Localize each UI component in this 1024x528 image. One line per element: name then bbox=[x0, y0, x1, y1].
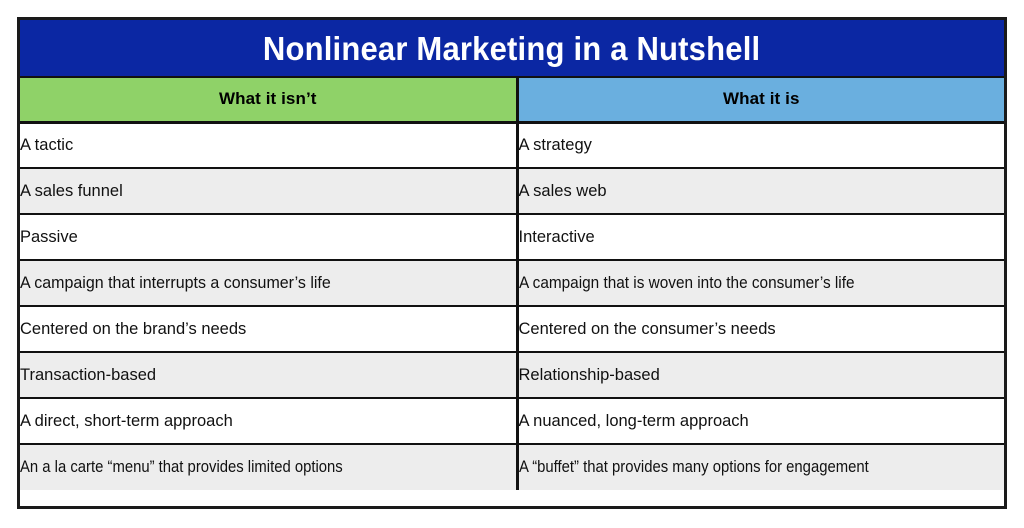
cell-text: A direct, short-term approach bbox=[20, 412, 233, 430]
cell-text: A nuanced, long-term approach bbox=[519, 412, 749, 430]
cell-what-it-is: A “buffet” that provides many options fo… bbox=[517, 444, 1004, 490]
cell-what-it-is: A campaign that is woven into the consum… bbox=[517, 260, 1004, 306]
cell-text: Relationship-based bbox=[519, 366, 660, 384]
cell-text: Centered on the brand’s needs bbox=[20, 320, 246, 338]
column-header-what-it-isnt: What it isn’t bbox=[20, 78, 517, 122]
title-banner: Nonlinear Marketing in a Nutshell bbox=[20, 20, 1004, 78]
table-body: A tactic A strategy A sales funnel A sal… bbox=[20, 122, 1004, 490]
table-row: A direct, short-term approach A nuanced,… bbox=[20, 398, 1004, 444]
cell-text: A sales funnel bbox=[20, 182, 123, 200]
cell-text: Transaction-based bbox=[20, 366, 156, 384]
comparison-table: What it isn’t What it is A tactic A stra… bbox=[20, 78, 1004, 490]
cell-what-it-is: Interactive bbox=[517, 214, 1004, 260]
cell-what-it-isnt: Centered on the brand’s needs bbox=[20, 306, 517, 352]
cell-what-it-is: A strategy bbox=[517, 122, 1004, 168]
cell-text: A “buffet” that provides many options fo… bbox=[519, 458, 869, 477]
table-row: An a la carte “menu” that provides limit… bbox=[20, 444, 1004, 490]
cell-text: Passive bbox=[20, 228, 78, 246]
cell-text: A sales web bbox=[519, 182, 607, 200]
cell-what-it-is: A sales web bbox=[517, 168, 1004, 214]
cell-text: A tactic bbox=[20, 136, 73, 154]
cell-what-it-isnt: A campaign that interrupts a consumer’s … bbox=[20, 260, 517, 306]
cell-text: A campaign that is woven into the consum… bbox=[519, 274, 855, 293]
cell-what-it-isnt: Transaction-based bbox=[20, 352, 517, 398]
cell-text: A strategy bbox=[519, 136, 592, 154]
slide-canvas: Nonlinear Marketing in a Nutshell What i… bbox=[0, 0, 1024, 528]
table-row: Transaction-based Relationship-based bbox=[20, 352, 1004, 398]
cell-what-it-isnt: A direct, short-term approach bbox=[20, 398, 517, 444]
table-header-row: What it isn’t What it is bbox=[20, 78, 1004, 122]
table-row: A campaign that interrupts a consumer’s … bbox=[20, 260, 1004, 306]
page-title: Nonlinear Marketing in a Nutshell bbox=[263, 32, 760, 65]
table-row: A sales funnel A sales web bbox=[20, 168, 1004, 214]
table-row: Centered on the brand’s needs Centered o… bbox=[20, 306, 1004, 352]
cell-what-it-isnt: A tactic bbox=[20, 122, 517, 168]
column-header-what-it-is: What it is bbox=[517, 78, 1004, 122]
cell-text: Interactive bbox=[519, 228, 595, 246]
table-row: Passive Interactive bbox=[20, 214, 1004, 260]
cell-text: Centered on the consumer’s needs bbox=[519, 320, 776, 338]
cell-what-it-is: Relationship-based bbox=[517, 352, 1004, 398]
cell-text: An a la carte “menu” that provides limit… bbox=[20, 458, 343, 477]
cell-what-it-is: A nuanced, long-term approach bbox=[517, 398, 1004, 444]
cell-what-it-isnt: A sales funnel bbox=[20, 168, 517, 214]
comparison-table-frame: Nonlinear Marketing in a Nutshell What i… bbox=[17, 17, 1007, 509]
cell-what-it-isnt: Passive bbox=[20, 214, 517, 260]
cell-text: A campaign that interrupts a consumer’s … bbox=[20, 274, 331, 293]
cell-what-it-is: Centered on the consumer’s needs bbox=[517, 306, 1004, 352]
cell-what-it-isnt: An a la carte “menu” that provides limit… bbox=[20, 444, 517, 490]
table-row: A tactic A strategy bbox=[20, 122, 1004, 168]
